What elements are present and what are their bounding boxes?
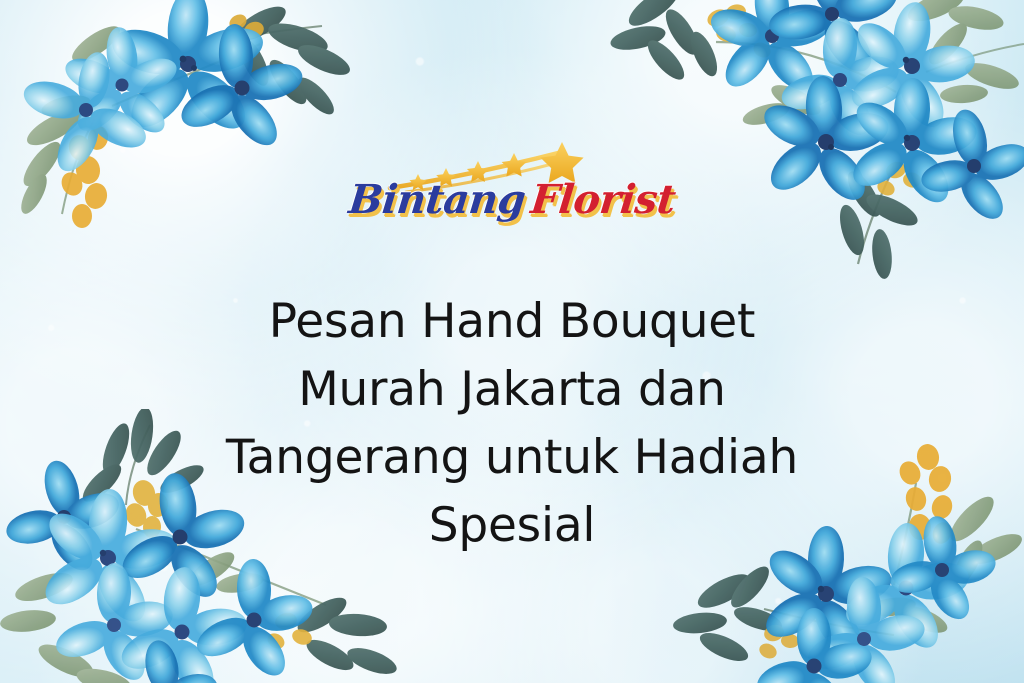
logo-text-bintang: Bintang (347, 180, 527, 220)
headline-line-1: Pesan Hand Bouquet (132, 288, 892, 356)
headline-line-4: Spesial (132, 492, 892, 560)
logo-wordmark: Bintang Florist (349, 180, 675, 220)
headline-line-3: Tangerang untuk Hadiah (132, 424, 892, 492)
brand-logo[interactable]: Bintang Florist (0, 140, 1024, 220)
headline: Pesan Hand Bouquet Murah Jakarta dan Tan… (132, 288, 892, 560)
logo-text-florist: Florist (529, 180, 677, 220)
banner-canvas: Bintang Florist Pesan Hand Bouquet Murah… (0, 0, 1024, 683)
headline-line-2: Murah Jakarta dan (132, 356, 892, 424)
